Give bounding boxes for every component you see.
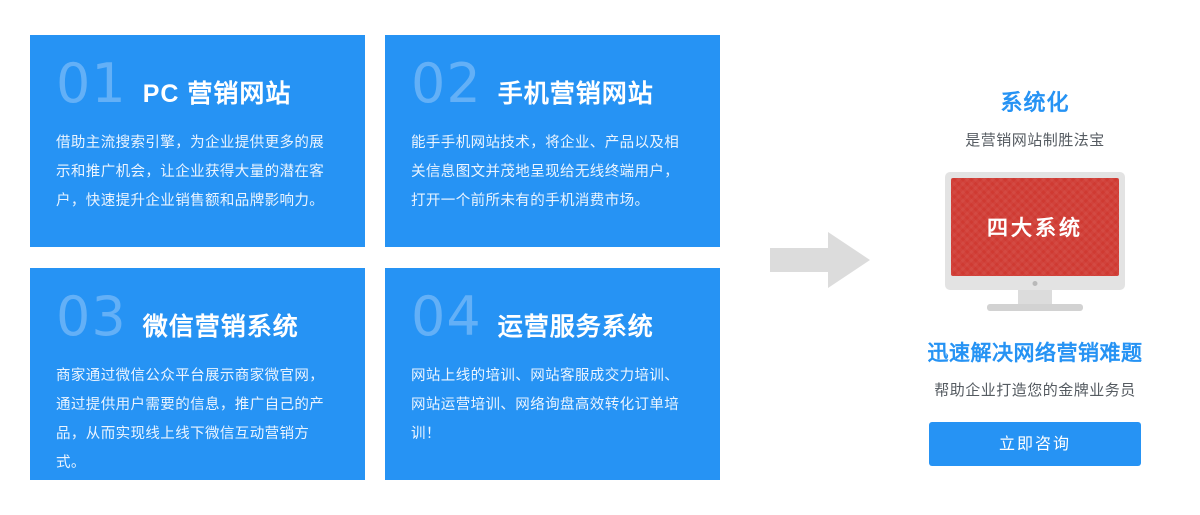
monitor-screen: 四大系统 xyxy=(951,178,1119,276)
right-arrow-icon xyxy=(770,232,870,288)
monitor-indicator-dot xyxy=(1033,281,1038,286)
card-header: 04 运营服务系统 xyxy=(411,290,694,344)
panel-tagline: 帮助企业打造您的金牌业务员 xyxy=(890,379,1180,400)
panel-title: 系统化 xyxy=(890,85,1180,117)
card-number: 01 xyxy=(56,57,127,111)
card-title: PC 营销网站 xyxy=(143,82,292,107)
card-title: 运营服务系统 xyxy=(498,315,654,340)
card-number: 02 xyxy=(411,57,482,111)
consult-now-button[interactable]: 立即咨询 xyxy=(929,422,1141,466)
card-header: 02 手机营销网站 xyxy=(411,57,694,111)
card-header: 01 PC 营销网站 xyxy=(56,57,339,111)
feature-card-03[interactable]: 03 微信营销系统 商家通过微信公众平台展示商家微官网，通过提供用户需要的信息，… xyxy=(30,268,365,480)
feature-card-02[interactable]: 02 手机营销网站 能手手机网站技术，将企业、产品以及相关信息图文并茂地呈现给无… xyxy=(385,35,720,247)
feature-card-04[interactable]: 04 运营服务系统 网站上线的培训、网站客服成交力培训、网站运营培训、网络询盘高… xyxy=(385,268,720,480)
monitor-illustration: 四大系统 xyxy=(945,172,1125,311)
panel-subtitle: 是营销网站制胜法宝 xyxy=(890,129,1180,150)
card-description: 商家通过微信公众平台展示商家微官网，通过提供用户需要的信息，推广自己的产品，从而… xyxy=(56,362,339,478)
card-number: 03 xyxy=(56,290,127,344)
monitor-frame: 四大系统 xyxy=(945,172,1125,290)
card-description: 能手手机网站技术，将企业、产品以及相关信息图文并茂地呈现给无线终端用户，打开一个… xyxy=(411,129,694,216)
feature-card-01[interactable]: 01 PC 营销网站 借助主流搜索引擎，为企业提供更多的展示和推广机会，让企业获… xyxy=(30,35,365,247)
card-header: 03 微信营销系统 xyxy=(56,290,339,344)
card-description: 借助主流搜索引擎，为企业提供更多的展示和推广机会，让企业获得大量的潜在客户，快速… xyxy=(56,129,339,216)
monitor-neck xyxy=(1018,290,1052,304)
page-root: 01 PC 营销网站 借助主流搜索引擎，为企业提供更多的展示和推广机会，让企业获… xyxy=(0,0,1200,515)
feature-cards-grid: 01 PC 营销网站 借助主流搜索引擎，为企业提供更多的展示和推广机会，让企业获… xyxy=(30,35,730,480)
card-description: 网站上线的培训、网站客服成交力培训、网站运营培训、网络询盘高效转化订单培训！ xyxy=(411,362,694,449)
card-number: 04 xyxy=(411,290,482,344)
card-title: 手机营销网站 xyxy=(498,82,654,107)
card-title: 微信营销系统 xyxy=(143,315,299,340)
panel-headline: 迅速解决网络营销难题 xyxy=(890,337,1180,367)
monitor-base xyxy=(987,304,1083,311)
screen-label: 四大系统 xyxy=(987,212,1083,242)
right-panel: 系统化 是营销网站制胜法宝 四大系统 迅速解决网络营销难题 帮助企业打造您的金牌… xyxy=(890,35,1180,485)
